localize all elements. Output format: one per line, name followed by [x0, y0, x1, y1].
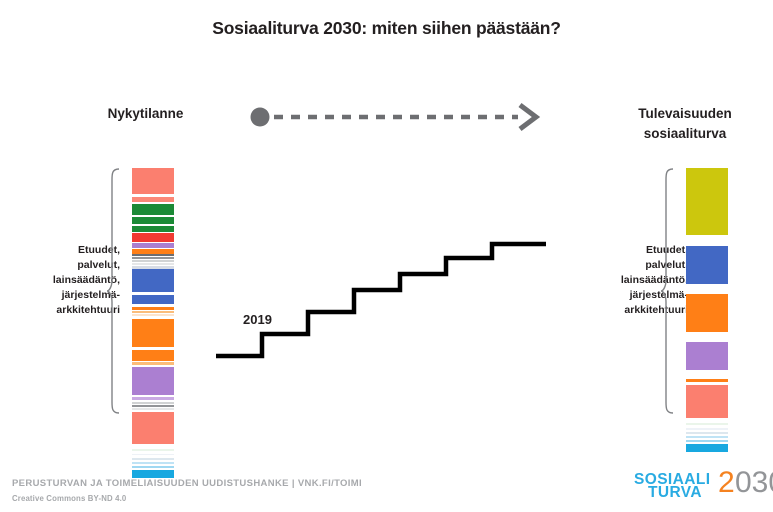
brace-label-left-line-4: arkkitehtuuri — [10, 303, 120, 318]
curly-brace-icon — [660, 168, 674, 414]
brace-label-left-line-2: lainsäädäntö, — [10, 273, 120, 288]
page-title: Sosiaaliturva 2030: miten siihen päästää… — [0, 18, 773, 39]
stack-segment — [132, 168, 174, 194]
stack-segment — [686, 284, 728, 294]
stack-segment — [132, 204, 174, 215]
stack-segment — [686, 370, 728, 379]
stack-segment — [132, 217, 174, 224]
brace-right — [660, 168, 674, 414]
column-heading-future-line2: sosiaaliturva — [600, 124, 770, 144]
stack-segment — [686, 246, 728, 284]
brace-label-left: Etuudet, palvelut, lainsäädäntö, järjest… — [10, 243, 120, 318]
logo-digit-2: 2 — [718, 468, 735, 498]
stack-segment — [132, 470, 174, 478]
column-heading-future: Tulevaisuuden sosiaaliturva — [600, 104, 770, 143]
column-heading-current: Nykytilanne — [78, 104, 213, 124]
brace-label-left-line-3: järjestelmä- — [10, 288, 120, 303]
stack-segment — [686, 342, 728, 370]
stack-segment — [686, 168, 728, 235]
logo-word-turva: TURVA — [648, 484, 702, 502]
staircase-graphic — [216, 238, 556, 368]
sosiaaliturva-2030-logo: SOSIAALI TURVA 2 030 — [634, 471, 764, 505]
infographic-canvas: Sosiaaliturva 2030: miten siihen päästää… — [0, 0, 773, 512]
stack-segment — [132, 350, 174, 361]
stack-segment — [132, 295, 174, 304]
column-heading-current-label: Nykytilanne — [108, 106, 184, 121]
stack-segment — [132, 367, 174, 395]
stack-segment — [686, 444, 728, 452]
stack-segment — [132, 269, 174, 292]
stack-segment — [132, 412, 174, 444]
stack-segment — [132, 233, 174, 242]
stack-segment — [686, 332, 728, 342]
stack-future-state — [686, 168, 728, 452]
footer-divider — [0, 455, 773, 456]
logo-digits-030: 030 — [735, 468, 773, 498]
curly-brace-icon — [106, 168, 120, 414]
stack-segment — [686, 294, 728, 332]
arrow-right-icon — [248, 102, 548, 132]
footer-license-line: Creative Commons BY-ND 4.0 — [12, 494, 126, 503]
stack-segment — [686, 385, 728, 418]
brace-left — [106, 168, 120, 414]
stack-current-state — [132, 168, 174, 478]
footer-project-line: PERUSTURVAN JA TOIMELIAISUUDEN UUDISTUSH… — [12, 478, 362, 489]
stack-segment — [132, 319, 174, 347]
brace-label-left-line-0: Etuudet, — [10, 243, 120, 258]
staircase-icon — [216, 238, 556, 363]
transition-arrow — [248, 102, 548, 132]
year-label: 2019 — [243, 312, 272, 327]
stack-segment — [686, 235, 728, 246]
column-heading-future-line1: Tulevaisuuden — [600, 104, 770, 124]
brace-label-left-line-1: palvelut, — [10, 258, 120, 273]
